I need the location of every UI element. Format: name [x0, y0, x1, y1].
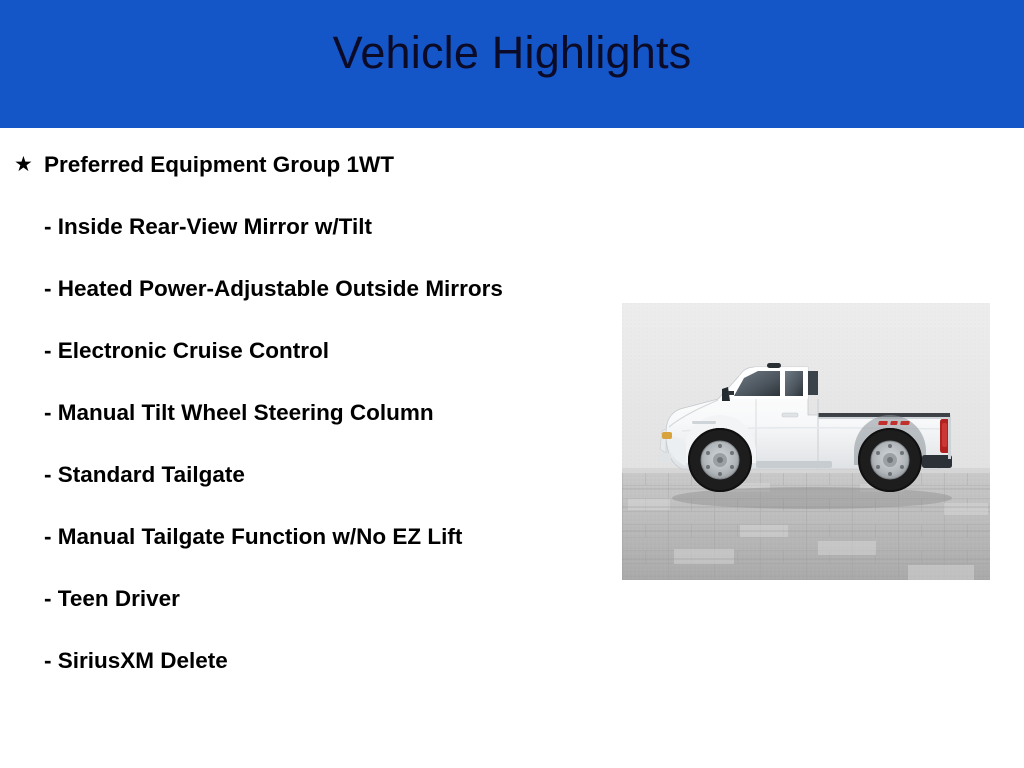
list-item-label: - Inside Rear-View Mirror w/Tilt — [44, 210, 600, 243]
list-item: - Teen Driver — [0, 582, 600, 615]
list-item-label: - Heated Power-Adjustable Outside Mirror… — [44, 272, 600, 305]
list-item-label: - SiriusXM Delete — [44, 644, 600, 677]
list-item: - Heated Power-Adjustable Outside Mirror… — [0, 272, 600, 305]
header-banner: Vehicle Highlights — [0, 0, 1024, 128]
vehicle-photo-image — [622, 303, 990, 580]
list-item-label: - Manual Tilt Wheel Steering Column — [44, 396, 600, 429]
list-item-label: - Electronic Cruise Control — [44, 334, 600, 367]
list-item: - Inside Rear-View Mirror w/Tilt — [0, 210, 600, 243]
list-item: - Manual Tailgate Function w/No EZ Lift — [0, 520, 600, 553]
list-item-label: - Manual Tailgate Function w/No EZ Lift — [44, 520, 600, 553]
list-item: ★ Preferred Equipment Group 1WT — [0, 148, 600, 181]
list-item: - Manual Tilt Wheel Steering Column — [0, 396, 600, 429]
list-item: - SiriusXM Delete — [0, 644, 600, 677]
list-item-label: - Teen Driver — [44, 582, 600, 615]
vehicle-highlights-list: ★ Preferred Equipment Group 1WT - Inside… — [0, 148, 600, 706]
list-item: - Electronic Cruise Control — [0, 334, 600, 367]
list-item-label: Preferred Equipment Group 1WT — [44, 148, 600, 181]
list-item: - Standard Tailgate — [0, 458, 600, 491]
vehicle-photo — [622, 303, 990, 580]
list-item-label: - Standard Tailgate — [44, 458, 600, 491]
page-title: Vehicle Highlights — [0, 0, 1024, 128]
slide-content: ★ Preferred Equipment Group 1WT - Inside… — [0, 128, 1024, 768]
star-bullet-icon: ★ — [14, 148, 33, 181]
